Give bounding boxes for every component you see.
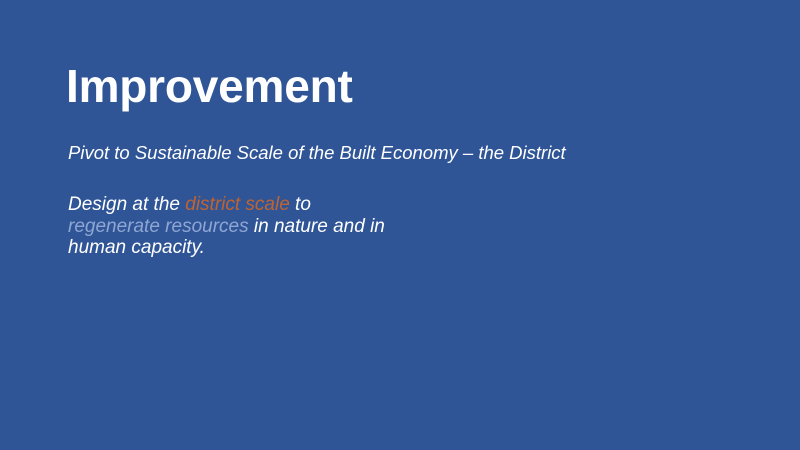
body-line-1: Design at the district scale to	[68, 194, 498, 216]
slide-subtitle: Pivot to Sustainable Scale of the Built …	[68, 141, 566, 166]
body-line-1-highlight-district-scale: district scale	[185, 194, 290, 215]
body-line-2: regenerate resources in nature and in	[68, 216, 498, 238]
body-line-2-highlight-regenerate-resources: regenerate resources	[68, 216, 249, 237]
body-line-2-text-after: in nature and in	[249, 216, 385, 237]
slide-body-text: Design at the district scale to regenera…	[68, 194, 498, 259]
presentation-slide: Improvement Pivot to Sustainable Scale o…	[0, 0, 800, 450]
body-line-1-text-after: to	[290, 194, 311, 215]
slide-title: Improvement	[66, 62, 353, 110]
body-line-1-text-before: Design at the	[68, 194, 185, 215]
body-line-3: human capacity.	[68, 237, 498, 259]
